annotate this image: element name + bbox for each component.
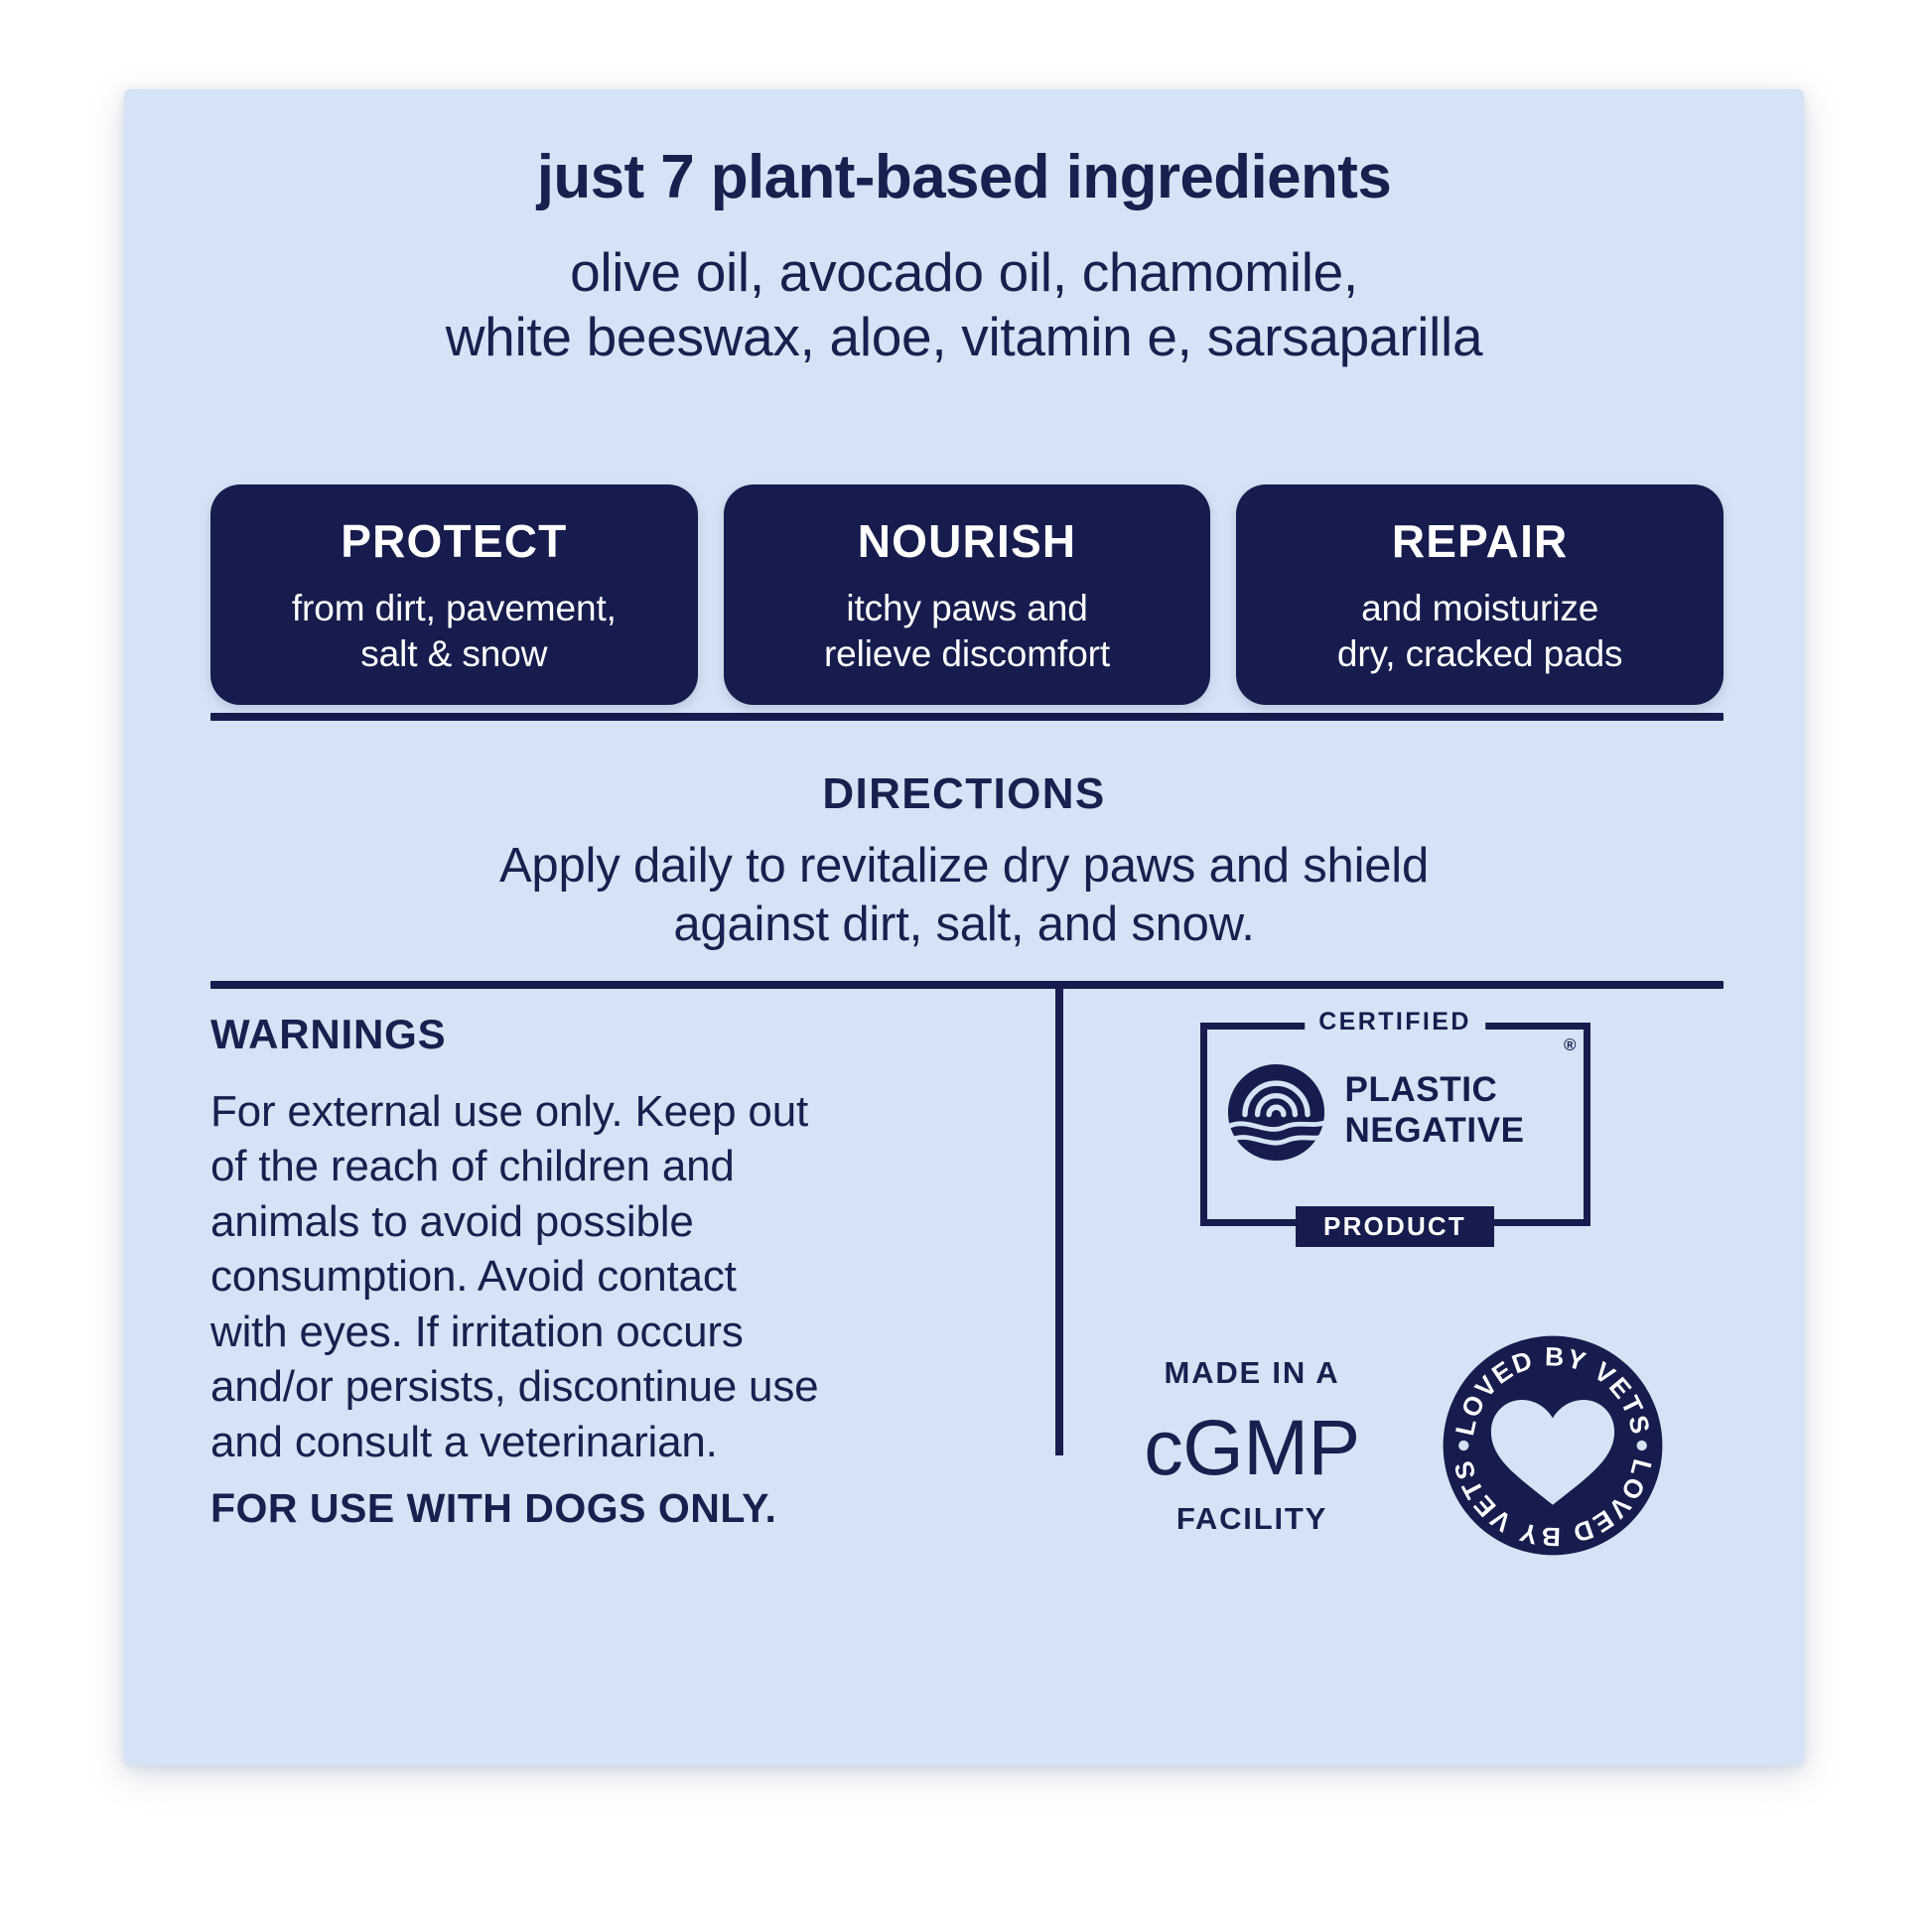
feature-cards: PROTECT from dirt, pavement, salt & snow…: [210, 484, 1724, 705]
warnings-body-line-4: consumption. Avoid contact: [210, 1249, 935, 1304]
feature-desc-repair-line-2: dry, cracked pads: [1250, 631, 1710, 677]
feature-desc-nourish-line-2: relieve discomfort: [738, 631, 1197, 677]
feature-card-protect: PROTECT from dirt, pavement, salt & snow: [210, 484, 698, 705]
divider-below-directions: [210, 981, 1724, 989]
plastic-negative-name-line-2: NEGATIVE: [1345, 1111, 1581, 1152]
cgmp-top-label: MADE IN A: [1123, 1357, 1381, 1388]
warnings-body-line-2: of the reach of children and: [210, 1139, 935, 1193]
directions-body-line-2: against dirt, salt, and snow.: [124, 896, 1804, 954]
directions-heading: DIRECTIONS: [124, 769, 1804, 819]
plastic-negative-badge: CERTIFIED ®: [1200, 1023, 1590, 1226]
cgmp-main-label: cGMP: [1123, 1404, 1381, 1491]
feature-desc-nourish-line-1: itchy paws and: [738, 586, 1197, 631]
certified-label: CERTIFIED: [1305, 1001, 1485, 1042]
registered-trademark-icon: ®: [1564, 1036, 1577, 1053]
feature-card-nourish: NOURISH itchy paws and relieve discomfor…: [724, 484, 1211, 705]
plastic-negative-name: PLASTIC NEGATIVE: [1345, 1070, 1581, 1151]
warnings-body-line-7: and consult a veterinarian.: [210, 1415, 935, 1469]
cgmp-badge: MADE IN A cGMP FACILITY: [1123, 1357, 1381, 1534]
certification-badges: CERTIFIED ®: [1067, 1003, 1723, 1560]
page-title: just 7 plant-based ingredients: [124, 147, 1804, 208]
warnings-heading: WARNINGS: [210, 1011, 935, 1058]
ingredients-list: olive oil, avocado oil, chamomile, white…: [124, 240, 1804, 369]
feature-desc-protect-line-2: salt & snow: [224, 631, 684, 677]
warnings-body: For external use only. Keep out of the r…: [210, 1084, 935, 1469]
directions-body-line-1: Apply daily to revitalize dry paws and s…: [124, 837, 1804, 896]
feature-desc-repair-line-1: and moisturize: [1250, 586, 1710, 631]
directions-body: Apply daily to revitalize dry paws and s…: [124, 837, 1804, 954]
warnings-section: WARNINGS For external use only. Keep out…: [210, 1011, 935, 1532]
badges-bottom-row: MADE IN A cGMP FACILITY: [1067, 1331, 1723, 1560]
feature-desc-nourish: itchy paws and relieve discomfort: [738, 586, 1197, 678]
warnings-body-line-5: with eyes. If irritation occurs: [210, 1305, 935, 1359]
warnings-footer: FOR USE WITH DOGS ONLY.: [210, 1485, 935, 1532]
feature-desc-protect: from dirt, pavement, salt & snow: [224, 586, 684, 678]
warnings-body-line-3: animals to avoid possible: [210, 1194, 935, 1249]
product-label: PRODUCT: [1296, 1206, 1494, 1247]
warnings-body-line-1: For external use only. Keep out: [210, 1084, 935, 1139]
loved-by-vets-seal: LOVED BY VETS LOVED BY VETS: [1439, 1331, 1667, 1560]
vertical-divider: [1055, 981, 1063, 1455]
ingredients-line-2: white beeswax, aloe, vitamin e, sarsapar…: [124, 305, 1804, 369]
feature-title-repair: REPAIR: [1250, 518, 1710, 564]
divider-above-directions: [210, 713, 1724, 721]
feature-title-protect: PROTECT: [224, 518, 684, 564]
plastic-negative-name-line-1: PLASTIC: [1345, 1070, 1581, 1111]
cgmp-bottom-label: FACILITY: [1123, 1503, 1381, 1534]
screenshot-stage: just 7 plant-based ingredients olive oil…: [0, 0, 1932, 1932]
feature-title-nourish: NOURISH: [738, 518, 1197, 564]
feature-desc-protect-line-1: from dirt, pavement,: [224, 586, 684, 631]
feature-desc-repair: and moisturize dry, cracked pads: [1250, 586, 1710, 678]
wave-sun-emblem-icon: [1224, 1060, 1328, 1165]
ingredients-line-1: olive oil, avocado oil, chamomile,: [124, 240, 1804, 305]
warnings-body-line-6: and/or persists, discontinue use: [210, 1359, 935, 1414]
feature-card-repair: REPAIR and moisturize dry, cracked pads: [1236, 484, 1724, 705]
product-label-panel: just 7 plant-based ingredients olive oil…: [124, 89, 1804, 1765]
